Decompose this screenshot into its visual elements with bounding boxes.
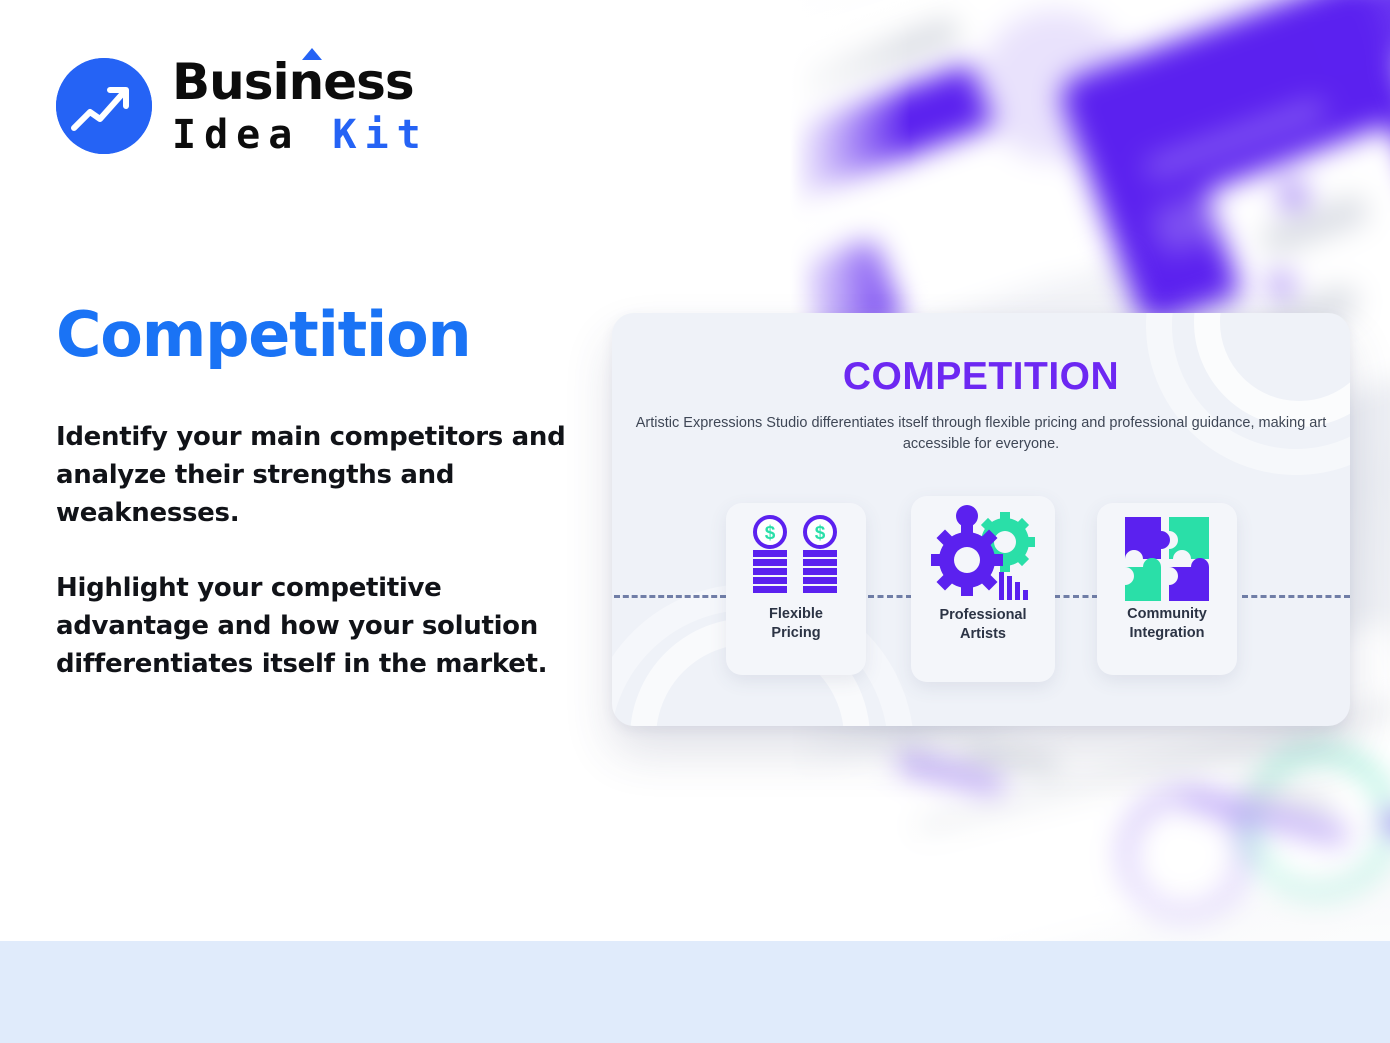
growth-chart-circle-icon xyxy=(56,58,152,154)
connector-dashed-line xyxy=(868,595,912,598)
brand-name-line1: Business xyxy=(172,57,429,107)
feature-label-line2: Pricing xyxy=(769,624,823,643)
brand-kit-text: Kit xyxy=(332,112,428,158)
feature-label-line2: Integration xyxy=(1127,624,1207,643)
feature-tile-label: Community Integration xyxy=(1127,605,1207,643)
gears-lightbulb-chart-icon xyxy=(925,502,1041,606)
brand-idea-text: Idea xyxy=(172,112,300,158)
brand-logo[interactable]: Business Idea Kit xyxy=(56,57,429,155)
brand-name-text: Business xyxy=(172,53,414,111)
body-paragraph-2: Highlight your competitive advantage and… xyxy=(56,569,576,684)
preview-card-title: COMPETITION xyxy=(612,355,1350,399)
puzzle-pieces-icon xyxy=(1121,513,1213,605)
coin-stacks-icon: $ $ xyxy=(744,513,848,605)
connector-dashed-line xyxy=(1242,595,1350,598)
feature-label-line2: Artists xyxy=(939,625,1026,644)
feature-label-line1: Professional xyxy=(939,606,1026,625)
slide-canvas: Business Idea Kit Competition Identify y… xyxy=(0,0,1390,1043)
brand-wordmark: Business Idea Kit xyxy=(172,57,429,155)
body-paragraph-1: Identify your main competitors and analy… xyxy=(56,418,576,533)
svg-text:$: $ xyxy=(815,523,826,544)
connector-dashed-line xyxy=(614,595,726,598)
brand-name-line2: Idea Kit xyxy=(172,115,429,155)
bottom-color-band xyxy=(0,941,1390,1043)
svg-text:$: $ xyxy=(765,523,776,544)
connector-dashed-line xyxy=(1054,595,1098,598)
caret-accent-icon xyxy=(302,48,322,60)
page-title: Competition xyxy=(56,298,470,371)
feature-label-line1: Community xyxy=(1127,605,1207,624)
feature-label-line1: Flexible xyxy=(769,605,823,624)
feature-tile-flexible-pricing[interactable]: $ $ Flexible xyxy=(726,503,866,675)
photo-bottom-fade xyxy=(790,760,1390,941)
feature-tile-label: Flexible Pricing xyxy=(769,605,823,643)
slide-body-copy: Identify your main competitors and analy… xyxy=(56,418,576,683)
preview-card-subtitle: Artistic Expressions Studio differentiat… xyxy=(612,413,1350,454)
feature-tile-label: Professional Artists xyxy=(939,606,1026,644)
feature-tile-community-integration[interactable]: Community Integration xyxy=(1097,503,1237,675)
feature-tile-professional-artists[interactable]: Professional Artists xyxy=(911,496,1055,682)
